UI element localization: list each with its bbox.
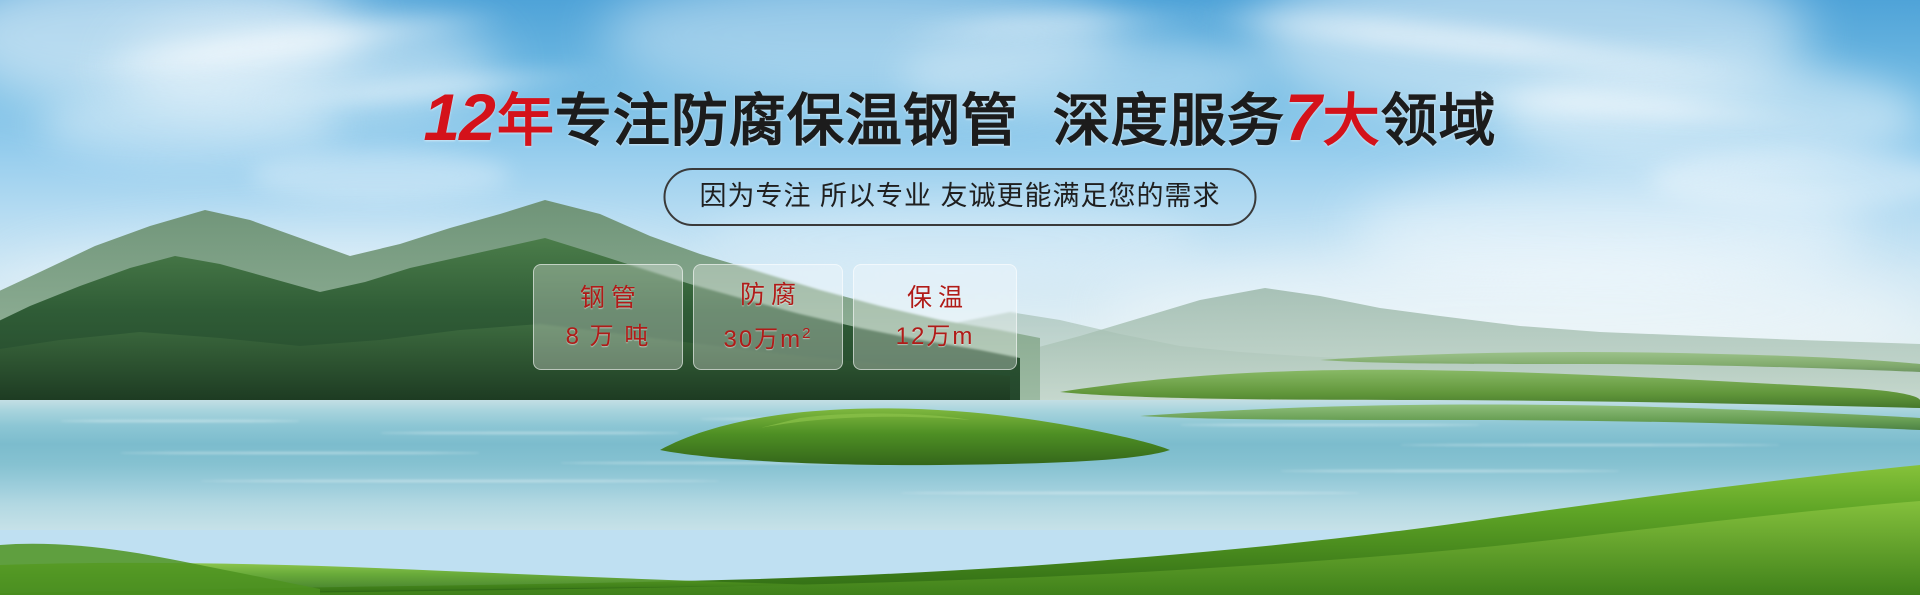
headline-fields-label: 领域 (1381, 89, 1497, 153)
stat-card-insulation[interactable]: 保温 12万m (853, 264, 1017, 370)
stat-card-title: 保温 (901, 283, 969, 313)
stat-card-steel-pipe[interactable]: 钢管 8 万 吨 (533, 264, 683, 370)
subtitle-pill: 因为专注 所以专业 友诚更能满足您的需求 (663, 168, 1256, 226)
right-shore-grass (1020, 330, 1920, 450)
subtitle-text: 因为专注 所以专业 友诚更能满足您的需求 (699, 181, 1220, 211)
hero-banner: 12年专注防腐保温钢管深度服务7大领域 因为专注 所以专业 友诚更能满足您的需求… (0, 0, 1920, 595)
stat-card-title: 防腐 (734, 280, 802, 310)
stat-card-value: 12万m (896, 323, 975, 351)
stat-card-value-main: 12万m (896, 323, 975, 350)
headline-fields-number: 7 (1285, 80, 1323, 154)
stat-card-anticorrosion[interactable]: 防腐 30万m2 (693, 264, 843, 370)
headline-main-text: 专注防腐保温钢管 (555, 89, 1019, 153)
stat-card-value: 30万m2 (723, 320, 812, 354)
stat-card-value-main: 30万m (723, 326, 802, 353)
headline-fields-unit: 大 (1323, 89, 1381, 153)
stat-card-value: 8 万 吨 (566, 323, 651, 351)
page-title: 12年专注防腐保温钢管深度服务7大领域 (0, 86, 1920, 152)
left-foreground-grass (0, 505, 320, 595)
stat-card-title: 钢管 (574, 283, 642, 313)
headline-years-unit: 年 (497, 89, 555, 153)
stat-card-value-superscript: 2 (802, 325, 812, 342)
headline-service-text: 深度服务 (1053, 89, 1285, 153)
stat-card-group: 钢管 8 万 吨 防腐 30万m2 保温 12万m (533, 264, 1017, 370)
headline-years-number: 12 (423, 80, 496, 154)
stat-card-value-main: 8 万 吨 (566, 323, 651, 350)
